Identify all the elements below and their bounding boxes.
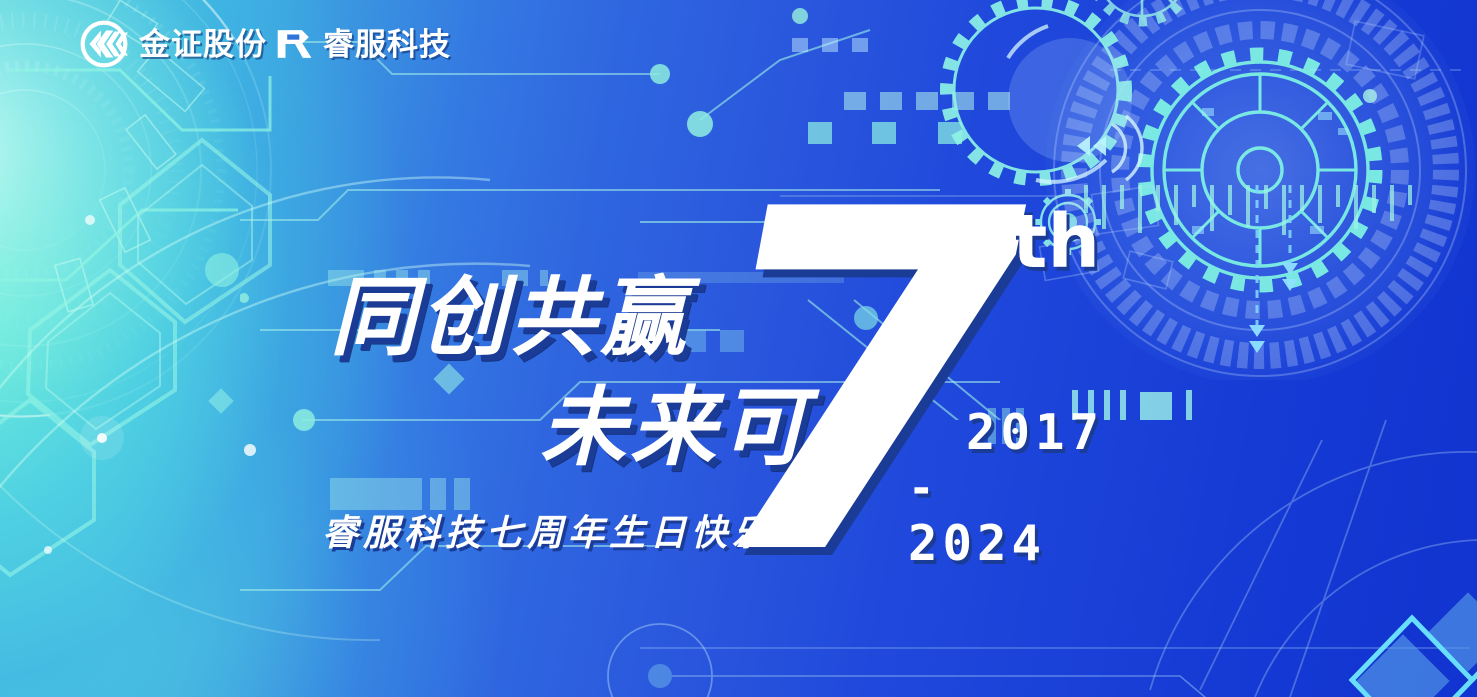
brand-logo-row: 金证股份 睿服科技 (78, 18, 451, 70)
subtitle-text: 睿服科技七周年生日快乐 (322, 516, 773, 552)
anniversary-banner: 金证股份 睿服科技 7 th 同创共赢 未来可 2017 - 2024 睿服科技… (0, 0, 1477, 697)
year-range: 2017 - 2024 (966, 408, 1104, 568)
decor-top-left-rings (0, 0, 1477, 697)
year-start: 2017 (966, 408, 1104, 457)
year-separator: - (908, 467, 1104, 511)
headline-block: 7 th 同创共赢 未来可 2017 - 2024 睿服科技七周年生日快乐 (0, 0, 1477, 697)
decor-gear-cluster (0, 0, 1477, 697)
company-name: 金证股份 (139, 29, 267, 60)
decor-misc-lines (0, 0, 1477, 697)
product-name: 睿服科技 (323, 29, 451, 60)
r-mark-icon (276, 27, 314, 61)
year-end: 2024 (908, 519, 1104, 568)
anniversary-number: 7 (700, 150, 1017, 620)
slogan-line-1: 同创共赢 (330, 275, 690, 361)
slogan-line-2: 未来可 (540, 385, 810, 471)
jinzheng-circle-chevron-logo-icon (78, 18, 130, 70)
decor-circuit-traces (0, 0, 1477, 697)
ordinal-suffix: th (1012, 205, 1100, 279)
